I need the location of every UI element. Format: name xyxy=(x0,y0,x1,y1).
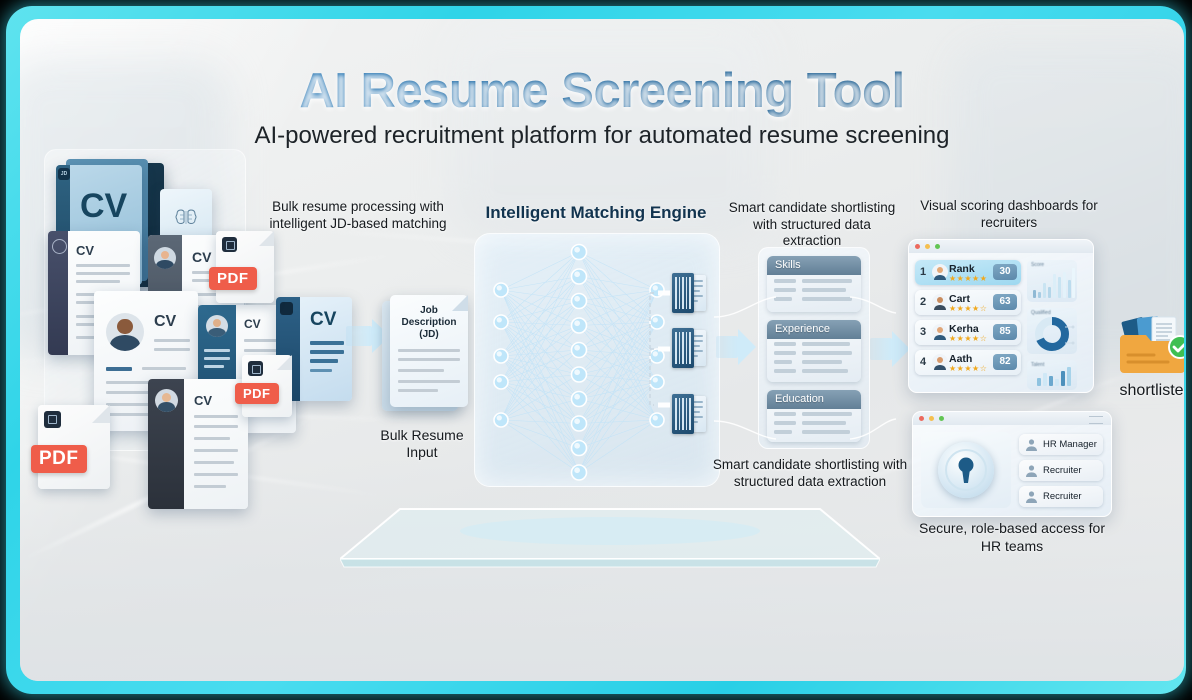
curve-connectors xyxy=(710,269,910,469)
pdf-document-2: PDF xyxy=(242,355,292,417)
mini-chart-label: Score xyxy=(1031,262,1044,268)
rank-number: 4 xyxy=(920,356,926,368)
rank-number: 1 xyxy=(920,266,926,278)
traffic-light-maximize[interactable] xyxy=(939,416,944,421)
cv-hero-label: CV xyxy=(80,187,127,226)
match-score: 85 xyxy=(993,324,1017,340)
star-rating: ★★★★☆ xyxy=(949,364,987,373)
cv-card-5: CV xyxy=(148,379,248,509)
brain-icon xyxy=(174,207,198,227)
ranking-row[interactable]: 1 Rank ★★★★★ 30 xyxy=(915,260,1021,285)
role-item-recruiter-2[interactable]: Recruiter xyxy=(1019,486,1103,507)
caption-smart-top: Smart candidate shortlisting with struct… xyxy=(722,200,902,250)
traffic-light-minimize[interactable] xyxy=(925,244,930,249)
avatar xyxy=(206,315,228,337)
person-icon xyxy=(1025,438,1038,451)
avatar xyxy=(155,389,178,412)
person-icon xyxy=(1025,490,1038,503)
caption-dashboards: Visual scoring dashboards for recruiters xyxy=(900,198,1118,231)
traffic-light-minimize[interactable] xyxy=(929,416,934,421)
match-score: 63 xyxy=(993,294,1017,310)
avatar xyxy=(154,247,176,269)
caption-shortlisted: shortlisted xyxy=(1098,383,1184,400)
cv-card-4-label: CV xyxy=(244,317,261,331)
avatar xyxy=(106,313,144,351)
match-score: 30 xyxy=(993,264,1017,280)
extracted-doc-connectors xyxy=(646,269,680,429)
window-titlebar xyxy=(909,240,1093,253)
page-title: AI Resume Screening Tool xyxy=(20,63,1184,119)
chip-icon xyxy=(44,411,61,428)
avatar xyxy=(932,264,948,280)
infographic-canvas: AI Resume Screening Tool AI-powered recr… xyxy=(20,19,1184,681)
caption-secure-access: Secure, role-based access for HR teams xyxy=(916,519,1108,555)
page-subtitle: AI-powered recruitment platform for auto… xyxy=(20,122,1184,150)
lock-panel xyxy=(921,432,1011,508)
pdf-document-3: PDF xyxy=(38,405,110,489)
ranking-row[interactable]: 4 Aath ★★★★☆ 82 xyxy=(915,350,1021,375)
glass-pedestal xyxy=(340,501,880,571)
traffic-light-close[interactable] xyxy=(915,244,920,249)
chip-icon xyxy=(280,302,293,315)
role-item-hr-manager[interactable]: HR Manager xyxy=(1019,434,1103,455)
avatar xyxy=(932,294,948,310)
shortlisted-folder[interactable] xyxy=(1118,315,1184,377)
rank-number: 2 xyxy=(920,296,926,308)
mini-chart-talent[interactable]: Talent xyxy=(1027,360,1077,390)
mini-chart-label: Talent xyxy=(1031,362,1044,368)
cv-card-6-label: CV xyxy=(310,309,336,331)
role-item-recruiter-1[interactable]: Recruiter xyxy=(1019,460,1103,481)
ranking-row[interactable]: 3 Kerha ★★★★☆ 85 xyxy=(915,320,1021,345)
avatar xyxy=(932,324,948,340)
jd-document: Job Description (JD) xyxy=(390,295,468,407)
scoring-dashboard-window: 1 Rank ★★★★★ 30 2 Cart ★★★★☆ 63 3 Kerha … xyxy=(908,239,1094,393)
role-label: Recruiter xyxy=(1043,491,1082,502)
window-titlebar xyxy=(913,412,1111,425)
star-rating: ★★★★☆ xyxy=(949,334,987,343)
pdf-label: PDF xyxy=(31,445,87,473)
menu-icon[interactable] xyxy=(1089,416,1103,424)
cv-card-1-label: CV xyxy=(76,243,94,258)
cv-card-2-label: CV xyxy=(192,249,211,265)
pdf-label: PDF xyxy=(209,267,257,290)
star-rating: ★★★★★ xyxy=(949,274,987,283)
pdf-label: PDF xyxy=(235,383,279,404)
rank-number: 3 xyxy=(920,326,926,338)
jd-badge: JD xyxy=(58,168,70,180)
cv-card-5-label: CV xyxy=(194,393,212,408)
chip-icon xyxy=(222,237,237,252)
lock-icon xyxy=(938,442,994,498)
caption-bulk-processing: Bulk resume processing with intelligent … xyxy=(258,199,458,232)
caption-bulk-input: Bulk Resume Input xyxy=(372,427,472,460)
pdf-document-1: PDF xyxy=(216,231,274,303)
mini-chart-score[interactable]: Score xyxy=(1027,260,1077,302)
traffic-light-close[interactable] xyxy=(919,416,924,421)
mini-chart-qualified[interactable]: Qualified xyxy=(1027,308,1077,354)
access-control-window: HR Manager Recruiter Recruiter xyxy=(912,411,1112,517)
traffic-light-maximize[interactable] xyxy=(935,244,940,249)
seal-icon xyxy=(52,239,67,254)
match-score: 82 xyxy=(993,354,1017,370)
neon-frame: AI Resume Screening Tool AI-powered recr… xyxy=(6,6,1186,694)
person-icon xyxy=(1025,464,1038,477)
jd-document-title: Job Description (JD) xyxy=(396,305,462,341)
ranking-row[interactable]: 2 Cart ★★★★☆ 63 xyxy=(915,290,1021,315)
star-rating: ★★★★☆ xyxy=(949,304,987,313)
cv-card-3-label: CV xyxy=(154,313,176,331)
avatar xyxy=(932,354,948,370)
caption-engine-title: Intelligent Matching Engine xyxy=(470,205,722,222)
chip-icon xyxy=(248,361,263,376)
role-label: Recruiter xyxy=(1043,465,1082,476)
role-label: HR Manager xyxy=(1043,439,1097,450)
